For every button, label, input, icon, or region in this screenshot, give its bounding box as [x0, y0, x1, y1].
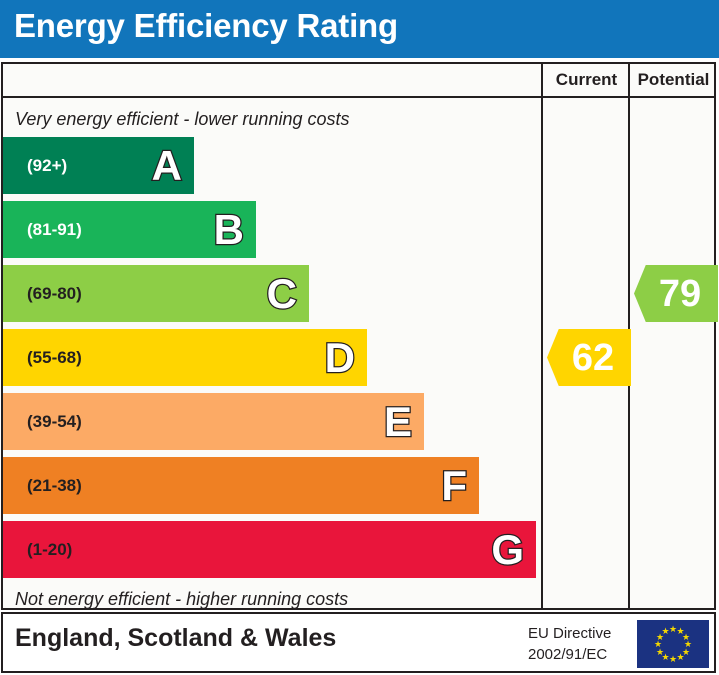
current-rating-marker-value: 62	[564, 339, 614, 377]
current-rating-marker: 62	[547, 329, 631, 386]
caption-very-efficient: Very energy efficient - lower running co…	[15, 109, 350, 130]
band-range-g: (1-20)	[27, 540, 72, 560]
potential-rating-marker-value: 79	[651, 275, 701, 313]
band-letter-e: E	[384, 401, 412, 443]
column-divider-current	[541, 62, 543, 610]
band-letter-b: B	[214, 209, 244, 251]
eu-star-icon: ★	[669, 655, 677, 663]
rating-band-e: (39-54)E	[3, 393, 424, 450]
band-range-c: (69-80)	[27, 284, 82, 304]
band-letter-f: F	[441, 465, 467, 507]
directive-line-1: EU Directive	[528, 624, 611, 645]
rating-band-b: (81-91)B	[3, 201, 256, 258]
column-header-current: Current	[544, 64, 629, 96]
band-letter-g: G	[491, 529, 524, 571]
column-header-row: Current Potential	[1, 62, 716, 98]
rating-bands: (92+)A(81-91)B(69-80)C(55-68)D(39-54)E(2…	[3, 137, 539, 584]
eu-flag-icon: ★★★★★★★★★★★★	[637, 620, 709, 668]
footer-directive-label: EU Directive 2002/91/EC	[528, 624, 611, 665]
directive-line-2: 2002/91/EC	[528, 645, 611, 666]
band-range-f: (21-38)	[27, 476, 82, 496]
band-range-b: (81-91)	[27, 220, 82, 240]
band-range-d: (55-68)	[27, 348, 82, 368]
eu-star-icon: ★	[677, 653, 685, 661]
column-header-potential: Potential	[631, 64, 716, 96]
band-range-a: (92+)	[27, 156, 67, 176]
rating-band-c: (69-80)C	[3, 265, 309, 322]
rating-band-g: (1-20)G	[3, 521, 536, 578]
eu-star-icon: ★	[662, 627, 670, 635]
footer-region-label: England, Scotland & Wales	[15, 624, 336, 653]
rating-band-a: (92+)A	[3, 137, 194, 194]
rating-band-d: (55-68)D	[3, 329, 367, 386]
epc-certificate-chart: Energy Efficiency Rating Current Potenti…	[0, 0, 719, 675]
band-letter-a: A	[152, 145, 182, 187]
band-range-e: (39-54)	[27, 412, 82, 432]
caption-not-efficient: Not energy efficient - higher running co…	[15, 589, 348, 610]
rating-band-f: (21-38)F	[3, 457, 479, 514]
potential-rating-marker: 79	[634, 265, 718, 322]
band-letter-c: C	[267, 273, 297, 315]
band-letter-d: D	[325, 337, 355, 379]
page-title: Energy Efficiency Rating	[14, 7, 398, 45]
chart-title-bar: Energy Efficiency Rating	[0, 0, 719, 58]
